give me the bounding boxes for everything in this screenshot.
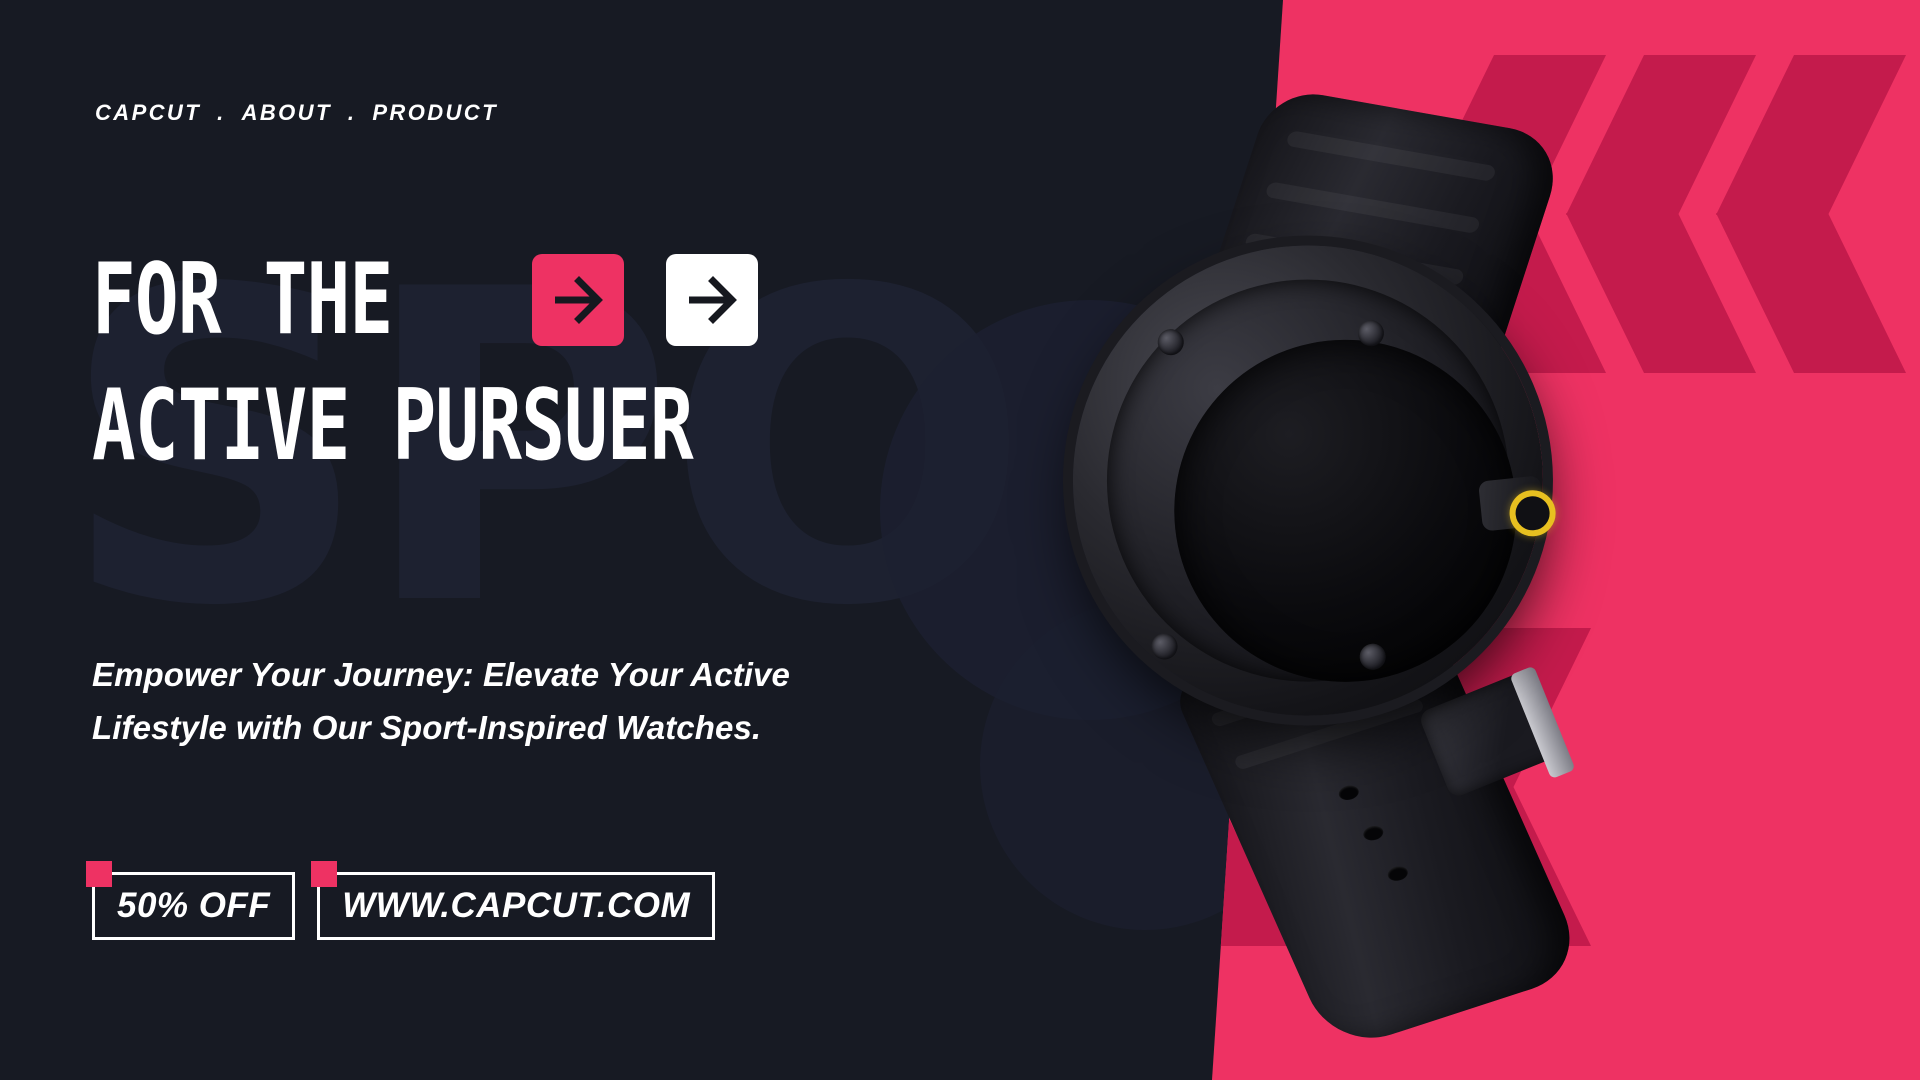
website-badge[interactable]: WWW.CAPCUT.COM bbox=[317, 872, 715, 940]
discount-label: 50% OFF bbox=[117, 886, 270, 926]
subtext-line-1: Empower Your Journey: Elevate Your Activ… bbox=[92, 648, 852, 701]
top-navigation: CAPCUT . ABOUT . PRODUCT bbox=[95, 100, 498, 126]
nav-item-about[interactable]: ABOUT bbox=[242, 100, 332, 126]
arrow-right-icon bbox=[551, 273, 605, 327]
cta-row: 50% OFF WWW.CAPCUT.COM bbox=[92, 872, 715, 940]
nav-item-product[interactable]: PRODUCT bbox=[372, 100, 498, 126]
nav-item-capcut[interactable]: CAPCUT bbox=[95, 100, 201, 126]
arrow-button-secondary[interactable] bbox=[666, 254, 758, 346]
promo-banner: SPO bbox=[0, 0, 1920, 1080]
website-label: WWW.CAPCUT.COM bbox=[342, 886, 690, 926]
watch-dial bbox=[1157, 323, 1533, 699]
subtext-line-2: Lifestyle with Our Sport-Inspired Watche… bbox=[92, 701, 852, 754]
corner-accent-square bbox=[311, 861, 337, 887]
corner-accent-square bbox=[86, 861, 112, 887]
product-image-smartwatch bbox=[1041, 112, 1878, 967]
hero-subtext: Empower Your Journey: Elevate Your Activ… bbox=[92, 648, 852, 754]
discount-badge[interactable]: 50% OFF bbox=[92, 872, 295, 940]
watch-bezel bbox=[1087, 260, 1529, 702]
arrow-button-primary[interactable] bbox=[532, 254, 624, 346]
bezel-screw bbox=[1150, 632, 1179, 661]
nav-separator: . bbox=[217, 100, 226, 126]
headline-line-1: FOR THE bbox=[92, 250, 392, 350]
hero-headline: FOR THE bbox=[92, 248, 992, 478]
arrow-right-icon bbox=[685, 273, 739, 327]
nav-separator: . bbox=[348, 100, 357, 126]
arrow-button-group bbox=[532, 254, 758, 346]
headline-line-2: ACTIVE PURSUER bbox=[92, 376, 693, 476]
